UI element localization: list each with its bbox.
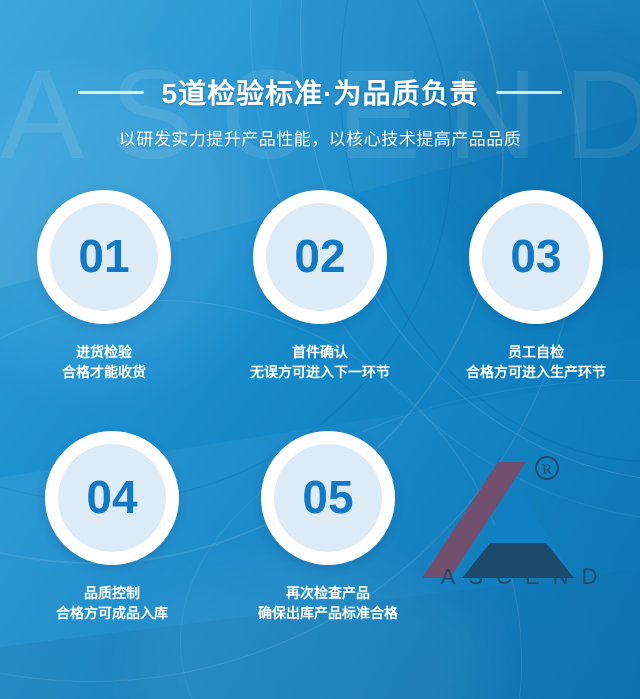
step-labels: 首件确认 无误方可进入下一环节 <box>250 342 390 383</box>
step-label-main: 员工自检 <box>466 342 606 362</box>
step-badge-inner: 04 <box>58 444 166 552</box>
step-label-sub: 合格才能收货 <box>62 362 146 382</box>
step-number: 01 <box>78 233 129 279</box>
step-badge-inner: 03 <box>482 203 590 311</box>
svg-text:R: R <box>542 462 552 478</box>
step-labels: 再次检查产品 确保出库产品标准合格 <box>258 583 398 624</box>
step-labels: 员工自检 合格方可进入生产环节 <box>466 342 606 383</box>
step-number: 04 <box>86 474 137 520</box>
registered-trademark-icon: R <box>536 457 558 479</box>
step-badge-inner: 05 <box>274 444 382 552</box>
page-subtitle: 以研发实力提升产品性能，以核心技术提高产品品质 <box>0 125 640 150</box>
step-label-main: 进货检验 <box>62 342 146 362</box>
step-item-05: 05 再次检查产品 确保出库产品标准合格 <box>244 431 412 624</box>
step-badge: 01 <box>37 190 171 324</box>
step-badge: 05 <box>261 431 395 565</box>
step-label-sub: 合格方可进入生产环节 <box>466 362 606 382</box>
step-item-02: 02 首件确认 无误方可进入下一环节 <box>236 190 404 383</box>
logo-wordmark: ASCEND <box>416 564 622 590</box>
page-title: 5道检验标准·为品质负责 <box>162 72 479 112</box>
step-label-main: 再次检查产品 <box>258 583 398 603</box>
brand-logo: R ASCEND <box>414 440 622 600</box>
step-label-sub: 合格方可成品入库 <box>56 603 168 623</box>
watermark-text: ASCEND <box>0 52 640 178</box>
step-item-01: 01 进货检验 合格才能收货 <box>20 190 188 383</box>
step-badge-inner: 01 <box>50 203 158 311</box>
step-label-main: 首件确认 <box>250 342 390 362</box>
title-row: 5道检验标准·为品质负责 <box>0 72 640 112</box>
step-item-03: 03 员工自检 合格方可进入生产环节 <box>452 190 620 383</box>
promo-banner: ASCEND 5道检验标准·为品质负责 以研发实力提升产品性能，以核心技术提高产… <box>0 0 640 699</box>
step-labels: 品质控制 合格方可成品入库 <box>56 583 168 624</box>
step-badge: 03 <box>469 190 603 324</box>
step-badge: 04 <box>45 431 179 565</box>
step-label-sub: 确保出库产品标准合格 <box>258 603 398 623</box>
rule-right-decoration <box>496 91 562 94</box>
step-labels: 进货检验 合格才能收货 <box>62 342 146 383</box>
step-number: 02 <box>294 233 345 279</box>
step-label-sub: 无误方可进入下一环节 <box>250 362 390 382</box>
step-label-main: 品质控制 <box>56 583 168 603</box>
rule-left-decoration <box>78 91 144 94</box>
step-badge-inner: 02 <box>266 203 374 311</box>
step-number: 05 <box>302 474 353 520</box>
steps-row-top: 01 进货检验 合格才能收货 02 首件确认 无误方可进入下一环节 <box>0 190 640 383</box>
step-badge: 02 <box>253 190 387 324</box>
step-number: 03 <box>510 233 561 279</box>
step-item-04: 04 品质控制 合格方可成品入库 <box>28 431 196 624</box>
